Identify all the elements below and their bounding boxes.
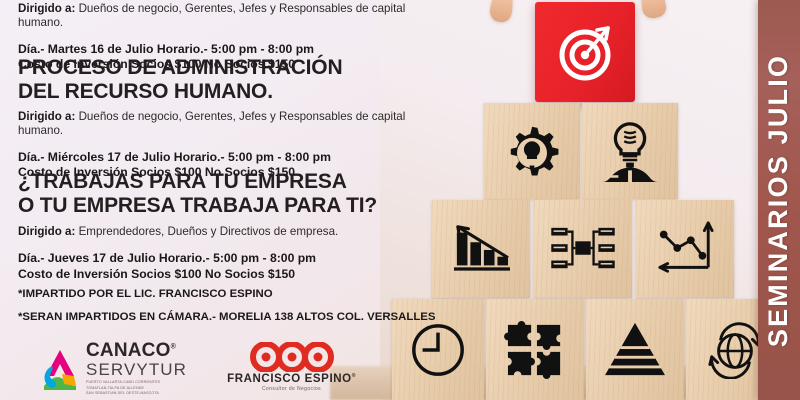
- block-org-chart: [534, 200, 632, 298]
- block-target: [535, 2, 635, 102]
- pyramid-icon: [603, 321, 667, 379]
- canaco-wordmark: CANACO® SERVYTUR PUERTO VALLARTA-CABO CO…: [86, 341, 187, 396]
- day-line-3: Día.- Jueves 17 de Julio Horario.- 5:00 …: [18, 251, 316, 265]
- block-gear-bulb: [484, 103, 580, 199]
- canaco-fine-line-2: TOMATLAN-TALPA DE ALLENDE: [86, 386, 144, 390]
- canaco-mark-icon: [40, 346, 80, 392]
- clock-icon: [409, 321, 467, 379]
- block-person-bulb: [582, 103, 678, 199]
- seminar-block-3: Dirigido a: Emprendedores, Dueños y Dire…: [18, 225, 448, 282]
- line-graph-icon: [654, 219, 716, 279]
- francisco-espino-wordmark: FRANCISCO ESPINO® Consultor de Negocios: [227, 374, 356, 393]
- audience-text-3: Emprendedores, Dueños y Directivos de em…: [79, 225, 339, 238]
- headline-1-line-1: PROCESO DE ADMINISTRACIÓN: [18, 56, 342, 79]
- logo-row: CANACO® SERVYTUR PUERTO VALLARTA-CABO CO…: [40, 341, 356, 396]
- seminar-poster: SEMINARIOS JULIO Dirigido a: Dueños de n…: [0, 0, 800, 400]
- fe-main-text: FRANCISCO ESPINO: [227, 373, 352, 385]
- headline-1: PROCESO DE ADMINISTRACIÓN DEL RECURSO HU…: [18, 56, 438, 103]
- gear-bulb-icon: [501, 120, 563, 182]
- audience-label-2: Dirigido a:: [18, 110, 75, 123]
- person-bulb-icon: [598, 120, 662, 182]
- block-puzzle: [486, 299, 584, 400]
- seminarios-julio-banner: SEMINARIOS JULIO: [758, 0, 800, 400]
- infinity-mark-icon: [249, 342, 335, 372]
- block-pyramid: [586, 299, 684, 400]
- audience-text-1: Dueños de negocio, Gerentes, Jefes y Res…: [18, 2, 405, 29]
- headline-1-line-2: DEL RECURSO HUMANO.: [18, 80, 273, 103]
- audience-text-2: Dueños de negocio, Gerentes, Jefes y Res…: [18, 110, 405, 137]
- headline-2-line-2: O TU EMPRESA TRABAJA PARA TI?: [18, 194, 377, 217]
- day-line-2: Día.- Miércoles 17 de Julio Horario.- 5:…: [18, 150, 331, 164]
- canaco-fine-line-1: PUERTO VALLARTA-CABO CORRIENTES: [86, 380, 160, 384]
- org-chart-icon: [549, 224, 617, 274]
- footnote-venue: *SERAN IMPARTIDOS EN CÁMARA.- MORELIA 13…: [18, 311, 438, 325]
- audience-line-3: Dirigido a: Emprendedores, Dueños y Dire…: [18, 225, 448, 239]
- footnote-instructor: *IMPARTIDO POR EL LIC. FRANCISCO ESPINO: [18, 288, 438, 302]
- audience-label-1: Dirigido a:: [18, 2, 75, 15]
- headline-2-line-1: ¿TRABAJAS PARA TU EMPRESA: [18, 170, 347, 193]
- fe-registered-mark: ®: [352, 373, 356, 379]
- canaco-fine-print: PUERTO VALLARTA-CABO CORRIENTES TOMATLAN…: [86, 380, 187, 396]
- day-line-1: Día.- Martes 16 de Julio Horario.- 5:00 …: [18, 42, 314, 56]
- target-icon: [553, 20, 617, 84]
- canaco-logo: CANACO® SERVYTUR PUERTO VALLARTA-CABO CO…: [40, 341, 187, 396]
- puzzle-icon: [504, 321, 566, 379]
- audience-line-1: Dirigido a: Dueños de negocio, Gerentes,…: [18, 2, 448, 30]
- banner-label: SEMINARIOS JULIO: [764, 53, 795, 346]
- canaco-registered-mark: ®: [171, 344, 176, 351]
- canaco-sub-text: SERVYTUR: [86, 361, 187, 378]
- audience-label-3: Dirigido a:: [18, 225, 75, 238]
- canaco-fine-line-3: SAN SEBASTIAN DEL OESTE-MASCOTA: [86, 391, 159, 395]
- globe-refresh-icon: [705, 321, 765, 379]
- audience-line-2: Dirigido a: Dueños de negocio, Gerentes,…: [18, 110, 448, 138]
- headline-2: ¿TRABAJAS PARA TU EMPRESA O TU EMPRESA T…: [18, 170, 438, 217]
- cost-line-3: Costo de Inversión Socios $100 No Socios…: [18, 267, 295, 281]
- fe-sub-text: Consultor de Negocios: [227, 387, 356, 392]
- bar-chart-down-icon: [449, 221, 513, 277]
- canaco-main-text: CANACO: [86, 340, 171, 361]
- footnotes: *IMPARTIDO POR EL LIC. FRANCISCO ESPINO …: [18, 288, 438, 324]
- block-line-graph: [636, 200, 734, 298]
- francisco-espino-logo: FRANCISCO ESPINO® Consultor de Negocios: [227, 342, 356, 397]
- schedule-block-3: Día.- Jueves 17 de Julio Horario.- 5:00 …: [18, 251, 448, 282]
